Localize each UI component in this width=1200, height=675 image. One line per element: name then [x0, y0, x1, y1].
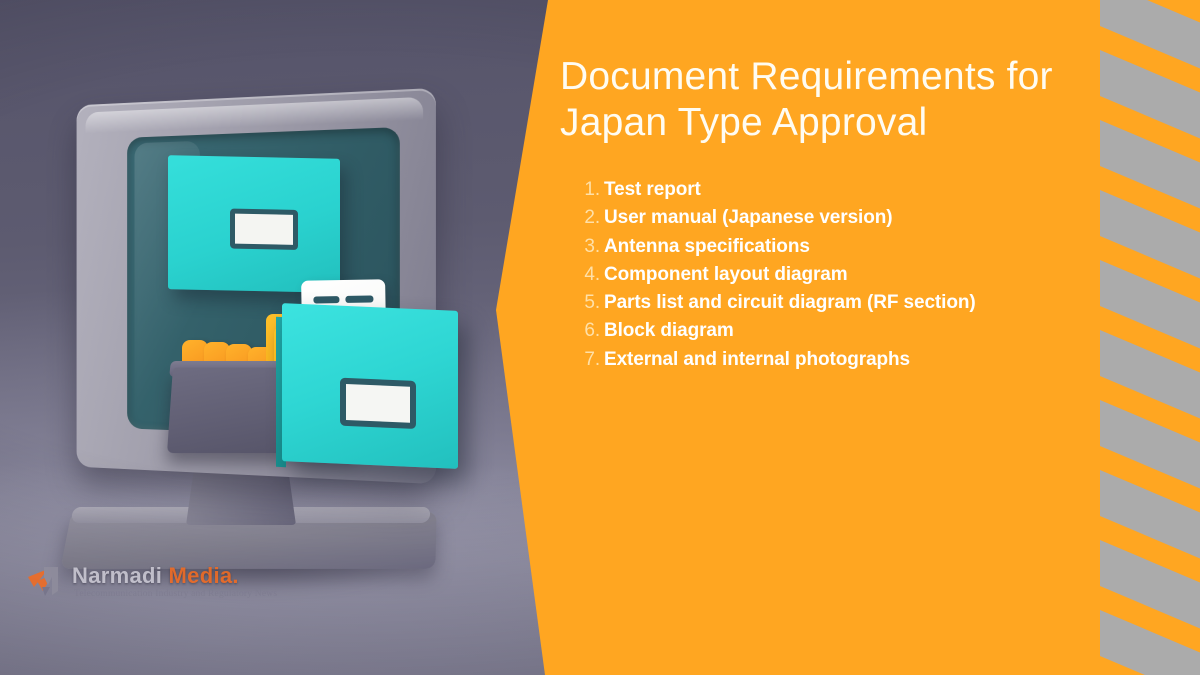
list-item: External and internal photographs	[604, 346, 1120, 374]
logo-name-accent: Media.	[169, 563, 239, 588]
list-item: Test report	[604, 176, 1120, 204]
list-item: Component layout diagram	[604, 261, 1120, 289]
list-item: Antenna specifications	[604, 233, 1120, 261]
requirements-list: Test report User manual (Japanese versio…	[560, 176, 1120, 374]
slide-canvas: Narmadi Media. Telecommunication Industr…	[0, 0, 1200, 675]
list-item: User manual (Japanese version)	[604, 204, 1120, 232]
brand-logo[interactable]: Narmadi Media. Telecommunication Industr…	[28, 561, 238, 607]
list-item: Parts list and circuit diagram (RF secti…	[604, 289, 1120, 317]
logo-name-primary: Narmadi	[72, 563, 169, 588]
triangle-chevron-logo-icon	[28, 565, 72, 599]
list-item: Block diagram	[604, 317, 1120, 345]
slide-content: Document Requirements for Japan Type App…	[560, 54, 1120, 374]
page-title: Document Requirements for Japan Type App…	[560, 54, 1120, 146]
logo-wordmark: Narmadi Media.	[72, 563, 239, 589]
logo-tagline: Telecommunication Industry and Regulator…	[74, 589, 277, 599]
